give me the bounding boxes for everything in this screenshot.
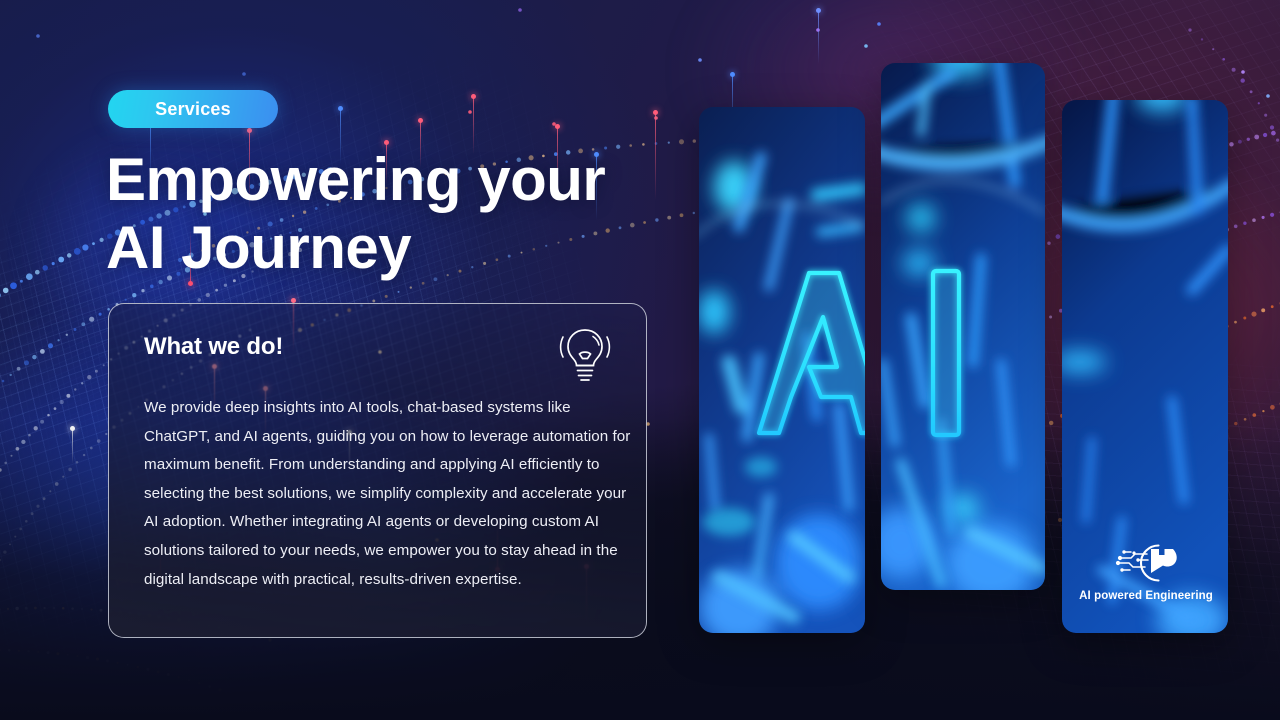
card-title: What we do!: [144, 333, 283, 361]
logo-caption: AI powered Engineering: [1079, 590, 1213, 602]
ai-powered-engineering-logo: AI powered Engineering: [1090, 540, 1202, 608]
card-body-text: We provide deep insights into AI tools, …: [144, 394, 632, 594]
lightbulb-icon: [557, 324, 613, 386]
ai-neon-letters: [699, 255, 1049, 455]
services-badge-label: Services: [155, 99, 231, 120]
services-badge[interactable]: Services: [108, 90, 278, 128]
wrench-circuit-icon: [1111, 540, 1181, 586]
headline-line-2: AI Journey: [106, 214, 706, 282]
headline-line-1: Empowering your: [106, 146, 605, 213]
what-we-do-card: What we do! We provide deep insights int…: [108, 303, 647, 638]
page-title: Empowering your AI Journey: [106, 146, 706, 282]
slide-canvas: AI powered Engineering Services Empoweri…: [0, 0, 1280, 720]
